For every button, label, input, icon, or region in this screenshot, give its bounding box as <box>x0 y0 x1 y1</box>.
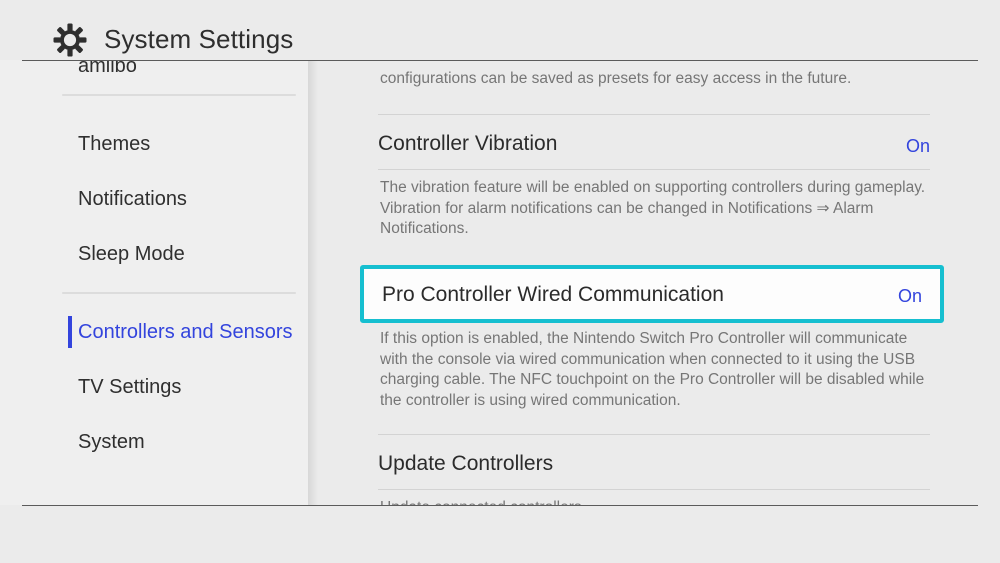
sidebar-item-notifications[interactable]: Notifications <box>0 179 308 219</box>
sidebar-item-amiibo[interactable]: amiibo <box>0 60 308 86</box>
setting-description: If this option is enabled, the Nintendo … <box>380 329 928 411</box>
sidebar-item-themes[interactable]: Themes <box>0 124 308 164</box>
clipped-description: configurations can be saved as presets f… <box>380 69 928 90</box>
sidebar-divider <box>62 94 296 96</box>
setting-description: The vibration feature will be enabled on… <box>380 178 928 240</box>
row-divider <box>378 489 930 490</box>
setting-title: Update Controllers <box>378 452 553 476</box>
sidebar-item-controllers-and-sensors[interactable]: Controllers and Sensors <box>0 312 308 352</box>
sidebar-item-label: Sleep Mode <box>0 243 185 266</box>
setting-title: Pro Controller Wired Communication <box>382 283 724 307</box>
scrollbar-track[interactable] <box>986 62 992 504</box>
row-divider <box>378 114 930 115</box>
setting-description: Update connected controllers. <box>380 498 928 505</box>
sidebar-item-label: System <box>0 431 145 454</box>
sidebar-divider <box>62 292 296 294</box>
sidebar-item-label: Notifications <box>0 188 187 211</box>
row-divider <box>378 434 930 435</box>
sidebar-item-sleep-mode[interactable]: Sleep Mode <box>0 234 308 274</box>
row-divider <box>378 169 930 170</box>
sidebar-item-label: TV Settings <box>0 376 181 399</box>
header-divider <box>22 60 978 61</box>
sidebar-item-label: Themes <box>0 133 150 156</box>
setting-value: On <box>906 136 930 157</box>
sidebar-item-label: amiibo <box>0 60 137 78</box>
settings-list: configurations can be saved as presets f… <box>308 61 1000 505</box>
setting-value: On <box>898 286 922 307</box>
sidebar-item-tv-settings[interactable]: TV Settings <box>0 367 308 407</box>
sidebar-item-label: Controllers and Sensors <box>0 321 293 344</box>
setting-title: Controller Vibration <box>378 132 557 156</box>
page-title: System Settings <box>104 24 293 55</box>
footer-divider <box>22 505 978 506</box>
app-header: System Settings <box>0 0 1000 60</box>
gear-icon <box>52 22 88 58</box>
sidebar-item-system[interactable]: System <box>0 422 308 462</box>
system-settings-screen: System Settings amiibo Themes Notificati… <box>0 0 1000 563</box>
sidebar-nav: amiibo Themes Notifications Sleep Mode C… <box>0 60 308 505</box>
footer-bar: B Back A OK <box>0 506 1000 563</box>
setting-row-pro-controller-wired-communication[interactable]: Pro Controller Wired Communication On <box>360 265 944 323</box>
